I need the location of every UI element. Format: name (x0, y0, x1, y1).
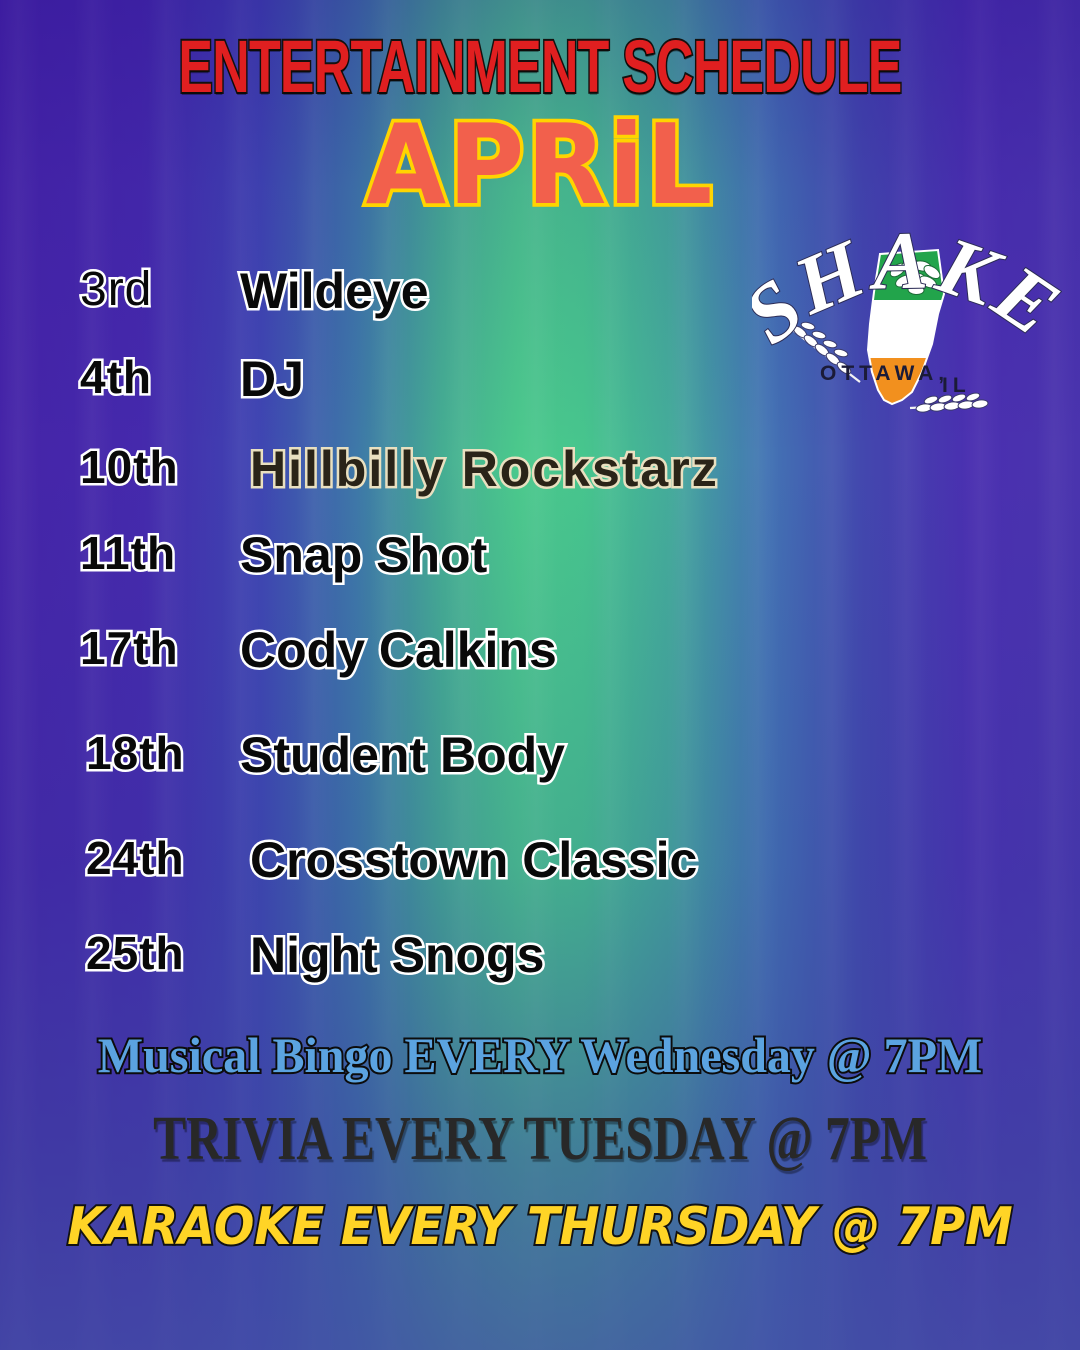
schedule-date: 10th (0, 440, 240, 494)
schedule-act: Snap Shot (240, 526, 487, 584)
schedule-date: 25th (0, 926, 240, 980)
schedule-date: 24th (0, 831, 240, 885)
schedule-row: 11th Snap Shot (0, 526, 1080, 621)
karaoke-line: KARAOKE EVERY THURSDAY @ 7PM (43, 1197, 1037, 1257)
schedule-list: 3rd Wildeye 4th DJ 10th Hillbilly Rockst… (0, 262, 1080, 1021)
schedule-date: 17th (0, 621, 240, 675)
schedule-row: 10th Hillbilly Rockstarz (0, 440, 1080, 526)
schedule-row: 4th DJ (0, 350, 1080, 440)
schedule-row: 24th Crosstown Classic (0, 831, 1080, 926)
schedule-row: 17th Cody Calkins (0, 621, 1080, 726)
entertainment-schedule-poster: ENTERTAINMENT SCHEDULE APRiL (0, 0, 1080, 1350)
schedule-row: 18th Student Body (0, 726, 1080, 831)
month-title: APRiL (0, 100, 1080, 229)
schedule-act: Wildeye (240, 262, 429, 320)
schedule-act: DJ (240, 350, 304, 408)
schedule-date: 18th (0, 726, 240, 780)
schedule-act: Night Snogs (240, 926, 544, 984)
schedule-date: 3rd (0, 262, 240, 317)
page-title: ENTERTAINMENT SCHEDULE (162, 24, 918, 109)
schedule-act: Student Body (240, 726, 565, 784)
schedule-act: Cody Calkins (240, 621, 557, 679)
trivia-line: TRIVIA EVERY TUESDAY @ 7PM (108, 1104, 972, 1175)
musical-bingo-line: Musical Bingo EVERY Wednesday @ 7PM (22, 1026, 1059, 1084)
schedule-act: Hillbilly Rockstarz (240, 440, 719, 498)
schedule-row: 25th Night Snogs (0, 926, 1080, 1021)
schedule-row: 3rd Wildeye (0, 262, 1080, 350)
schedule-act: Crosstown Classic (240, 831, 697, 889)
schedule-date: 11th (0, 526, 240, 580)
schedule-date: 4th (0, 350, 240, 404)
